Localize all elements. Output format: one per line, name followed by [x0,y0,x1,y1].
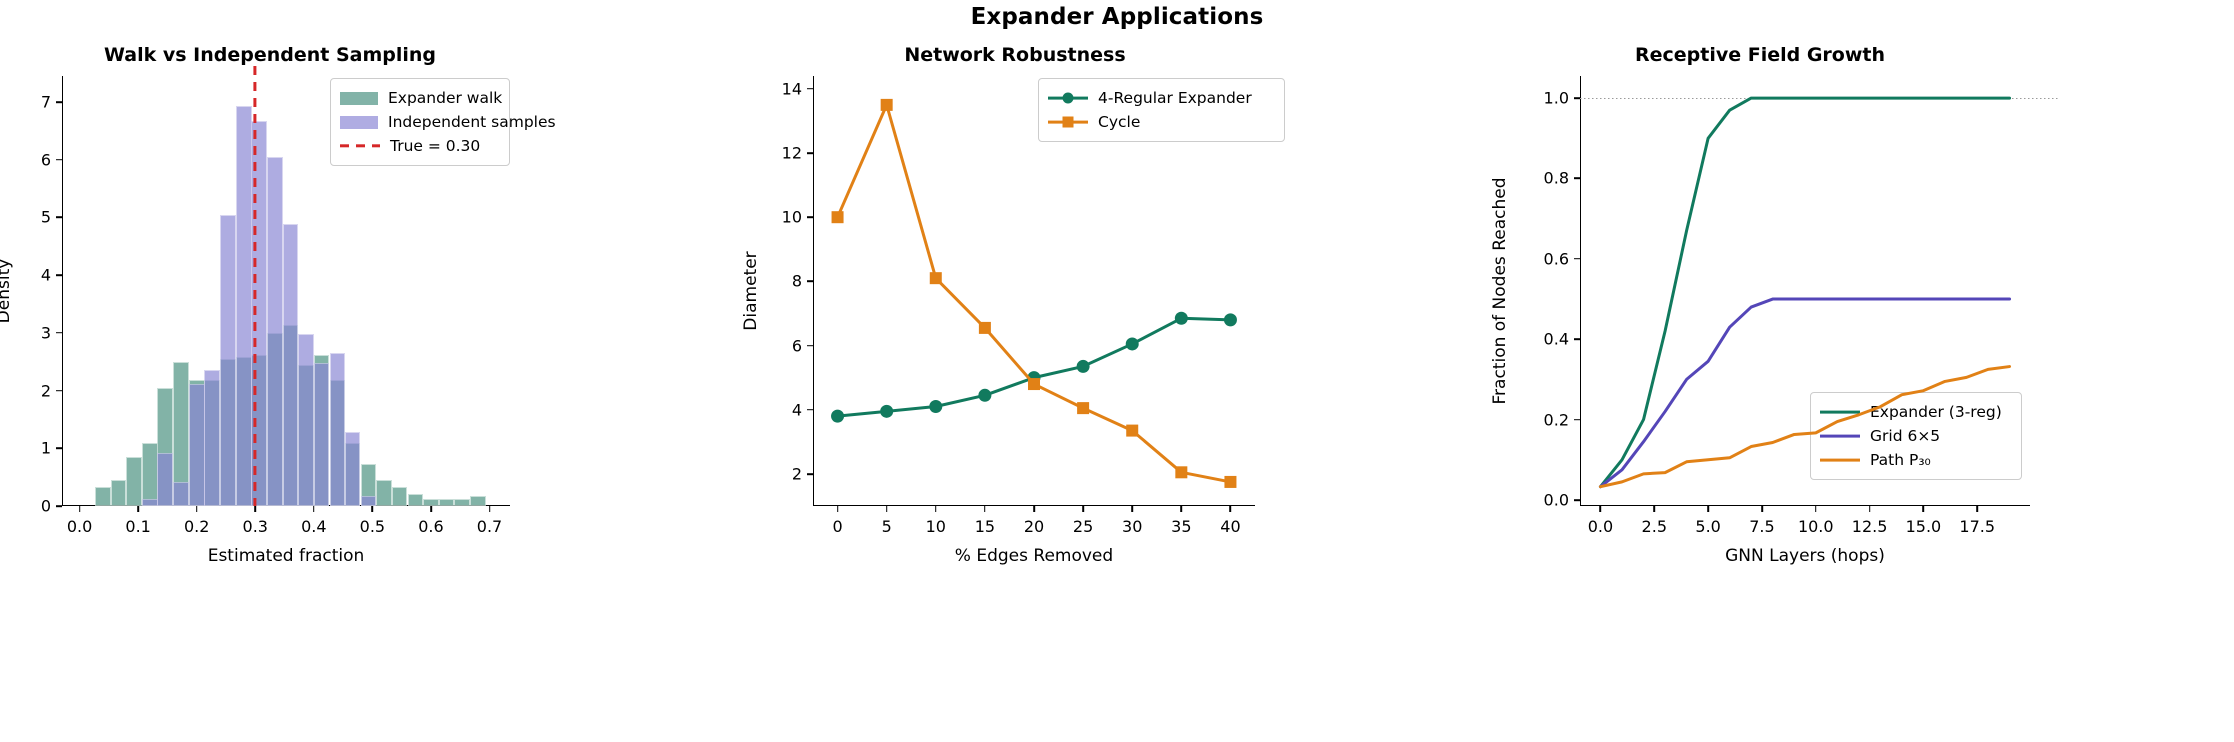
histogram-bar [204,370,220,506]
data-point-marker [1028,378,1040,390]
data-point-marker [979,322,991,334]
panel-walk-vs-independent-sampling: Walk vs Independent Sampling Estimated f… [0,40,540,740]
legend-label: Independent samples [388,113,556,131]
y-tick-mark [56,390,62,392]
data-point-marker [1175,466,1187,478]
panel1-title: Walk vs Independent Sampling [0,44,540,66]
series-line [838,105,1231,482]
y-tick-label: 7 [0,92,51,111]
histogram-bar [470,496,486,506]
histogram-bar [423,499,439,506]
x-tick-mark [254,506,256,512]
data-point-marker [1126,337,1139,350]
y-tick-mark [56,159,62,161]
histogram-bar [439,499,455,506]
panel1-legend[interactable]: Expander walk Independent samples True =… [330,78,510,166]
histogram-bar [392,487,408,506]
data-point-marker [978,389,991,402]
panel-receptive-field-growth: Receptive Field Growth GNN Layers (hops)… [1490,40,2030,740]
legend-item-expander-walk[interactable]: Expander walk [340,86,499,110]
histogram-bar [126,457,142,506]
x-tick-mark [489,506,491,512]
y-tick-mark [56,101,62,103]
x-tick-mark [79,506,81,512]
legend-label: Expander walk [388,89,502,107]
legend-item-independent-samples[interactable]: Independent samples [340,110,499,134]
data-point-marker [1175,312,1188,325]
histogram-bar [330,353,346,506]
histogram-bar [173,482,189,506]
x-tick-label: 0.5 [360,517,385,536]
y-tick-label: 6 [0,150,51,169]
data-point-marker [1224,313,1237,326]
x-tick-mark [137,506,139,512]
histogram-bar [189,384,205,506]
y-tick-label: 3 [0,323,51,342]
histogram-bar [314,363,330,506]
true-value-vertical-line [254,66,257,506]
y-tick-label: 5 [0,208,51,227]
panel1-x-axis-label: Estimated fraction [62,546,510,566]
histogram-bar [454,499,470,506]
y-tick-mark [56,505,62,507]
x-tick-label: 0.4 [301,517,326,536]
x-tick-mark [430,506,432,512]
x-tick-label: 0.0 [67,517,92,536]
histogram-bar [236,106,252,506]
y-tick-mark [56,274,62,276]
data-point-marker [930,272,942,284]
histogram-bar [220,215,236,506]
data-point-marker [1077,360,1090,373]
y-tick-label: 2 [0,381,51,400]
data-point-marker [1126,425,1138,437]
histogram-bar [95,487,111,506]
x-tick-mark [313,506,315,512]
x-tick-label: 0.3 [243,517,268,536]
panel3-series-layer [1490,40,2030,740]
data-point-marker [1224,476,1236,488]
x-tick-label: 0.6 [418,517,443,536]
histogram-bar [111,480,127,506]
figure-canvas: Expander Applications Walk vs Independen… [0,0,2234,742]
legend-item-true-value[interactable]: True = 0.30 [340,134,499,158]
histogram-bar [142,499,158,506]
x-tick-label: 0.1 [125,517,150,536]
figure-suptitle: Expander Applications [0,4,2234,30]
legend-label: True = 0.30 [390,137,480,155]
histogram-bar [298,334,314,506]
histogram-bar [361,496,377,506]
series-line [838,318,1231,416]
y-tick-label: 0 [0,497,51,516]
independent-samples-swatch-icon [340,116,378,129]
series-line [1600,299,2009,487]
data-point-marker [832,211,844,223]
panel-network-robustness: Network Robustness % Edges Removed Diame… [745,40,1285,740]
histogram-bar [283,224,299,506]
histogram-bar [267,157,283,506]
histogram-bar [157,453,173,506]
histogram-bar [345,432,361,506]
data-point-marker [880,405,893,418]
x-tick-mark [196,506,198,512]
y-tick-label: 1 [0,439,51,458]
y-tick-mark [56,332,62,334]
series-line [1600,367,2009,487]
y-tick-label: 4 [0,266,51,285]
y-tick-mark [56,447,62,449]
histogram-bar [408,494,424,506]
data-point-marker [881,99,893,111]
panel2-series-layer [745,40,1285,740]
expander-walk-swatch-icon [340,92,378,105]
true-value-dashed-line-icon [340,137,380,155]
x-tick-mark [372,506,374,512]
y-tick-mark [56,217,62,219]
series-line [1600,98,2009,487]
data-point-marker [831,410,844,423]
data-point-marker [1077,402,1089,414]
x-tick-label: 0.7 [477,517,502,536]
histogram-bar [142,443,158,506]
histogram-bar [376,480,392,506]
x-tick-label: 0.2 [184,517,209,536]
data-point-marker [929,400,942,413]
